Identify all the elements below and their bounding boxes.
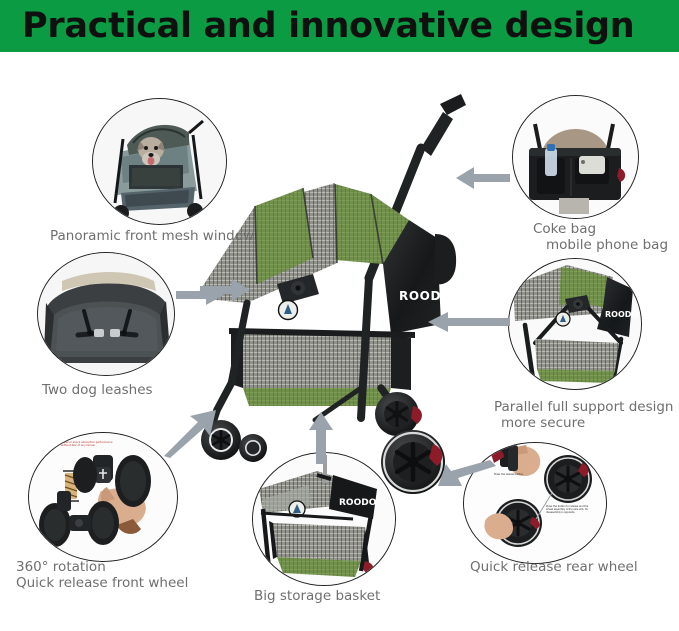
- photo-big-storage-basket: ROODO®: [253, 453, 395, 585]
- caption-parallel-full-support: Parallel full support design more secure: [494, 400, 674, 431]
- arrow-to-basket: [308, 412, 334, 464]
- photo-parallel-full-support: ROODO®: [509, 259, 641, 389]
- arrow-to-rear-wheel: [438, 460, 496, 494]
- callout-coke-bag: [512, 95, 639, 219]
- arrow-to-coke-bag: [452, 165, 510, 191]
- inset-text-rear-wheel-instructions: Press the button to release and the whee…: [546, 505, 594, 514]
- page-title: Practical and innovative design: [0, 9, 634, 44]
- arrow-to-leashes: [176, 283, 226, 307]
- caption-360-rotation-front-wheel: 360° rotation Quick release front wheel: [16, 560, 188, 591]
- svg-text:ROODO®: ROODO®: [605, 310, 641, 319]
- photo-two-dog-leashes: [38, 253, 174, 375]
- inset-text-shock-absorption: Superior shock absorption performance wi…: [61, 441, 119, 447]
- arrow-to-front-wheel: [160, 408, 220, 458]
- caption-two-dog-leashes: Two dog leashes: [42, 383, 153, 399]
- photo-coke-bag: [513, 96, 638, 218]
- arrow-to-parallel-support: [424, 310, 510, 334]
- photo-panoramic-front-mesh-window: [93, 99, 226, 224]
- header-banner: Practical and innovative design: [0, 0, 679, 52]
- callout-panoramic-front-mesh-window: [92, 98, 227, 225]
- caption-big-storage-basket: Big storage basket: [254, 589, 380, 605]
- callout-two-dog-leashes: [37, 252, 175, 376]
- svg-text:ROODO®: ROODO®: [399, 289, 458, 303]
- caption-quick-release-rear-wheel: Quick release rear wheel: [470, 560, 638, 576]
- callout-360-rotation-front-wheel: Superior shock absorption performance wi…: [28, 432, 178, 562]
- infographic-root: Practical and innovative design: [0, 0, 679, 631]
- svg-text:ROODO®: ROODO®: [339, 498, 381, 509]
- inset-text-press-release-button: Press the release button: [494, 473, 534, 476]
- caption-coke-bag: Coke bag mobile phone bag: [533, 222, 668, 253]
- caption-panoramic-front-mesh-window: Panoramic front mesh window: [50, 229, 254, 245]
- photo-360-rotation-front-wheel: Superior shock absorption performance wi…: [29, 433, 177, 561]
- callout-parallel-full-support: ROODO®: [508, 258, 642, 390]
- callout-big-storage-basket: ROODO®: [252, 452, 396, 586]
